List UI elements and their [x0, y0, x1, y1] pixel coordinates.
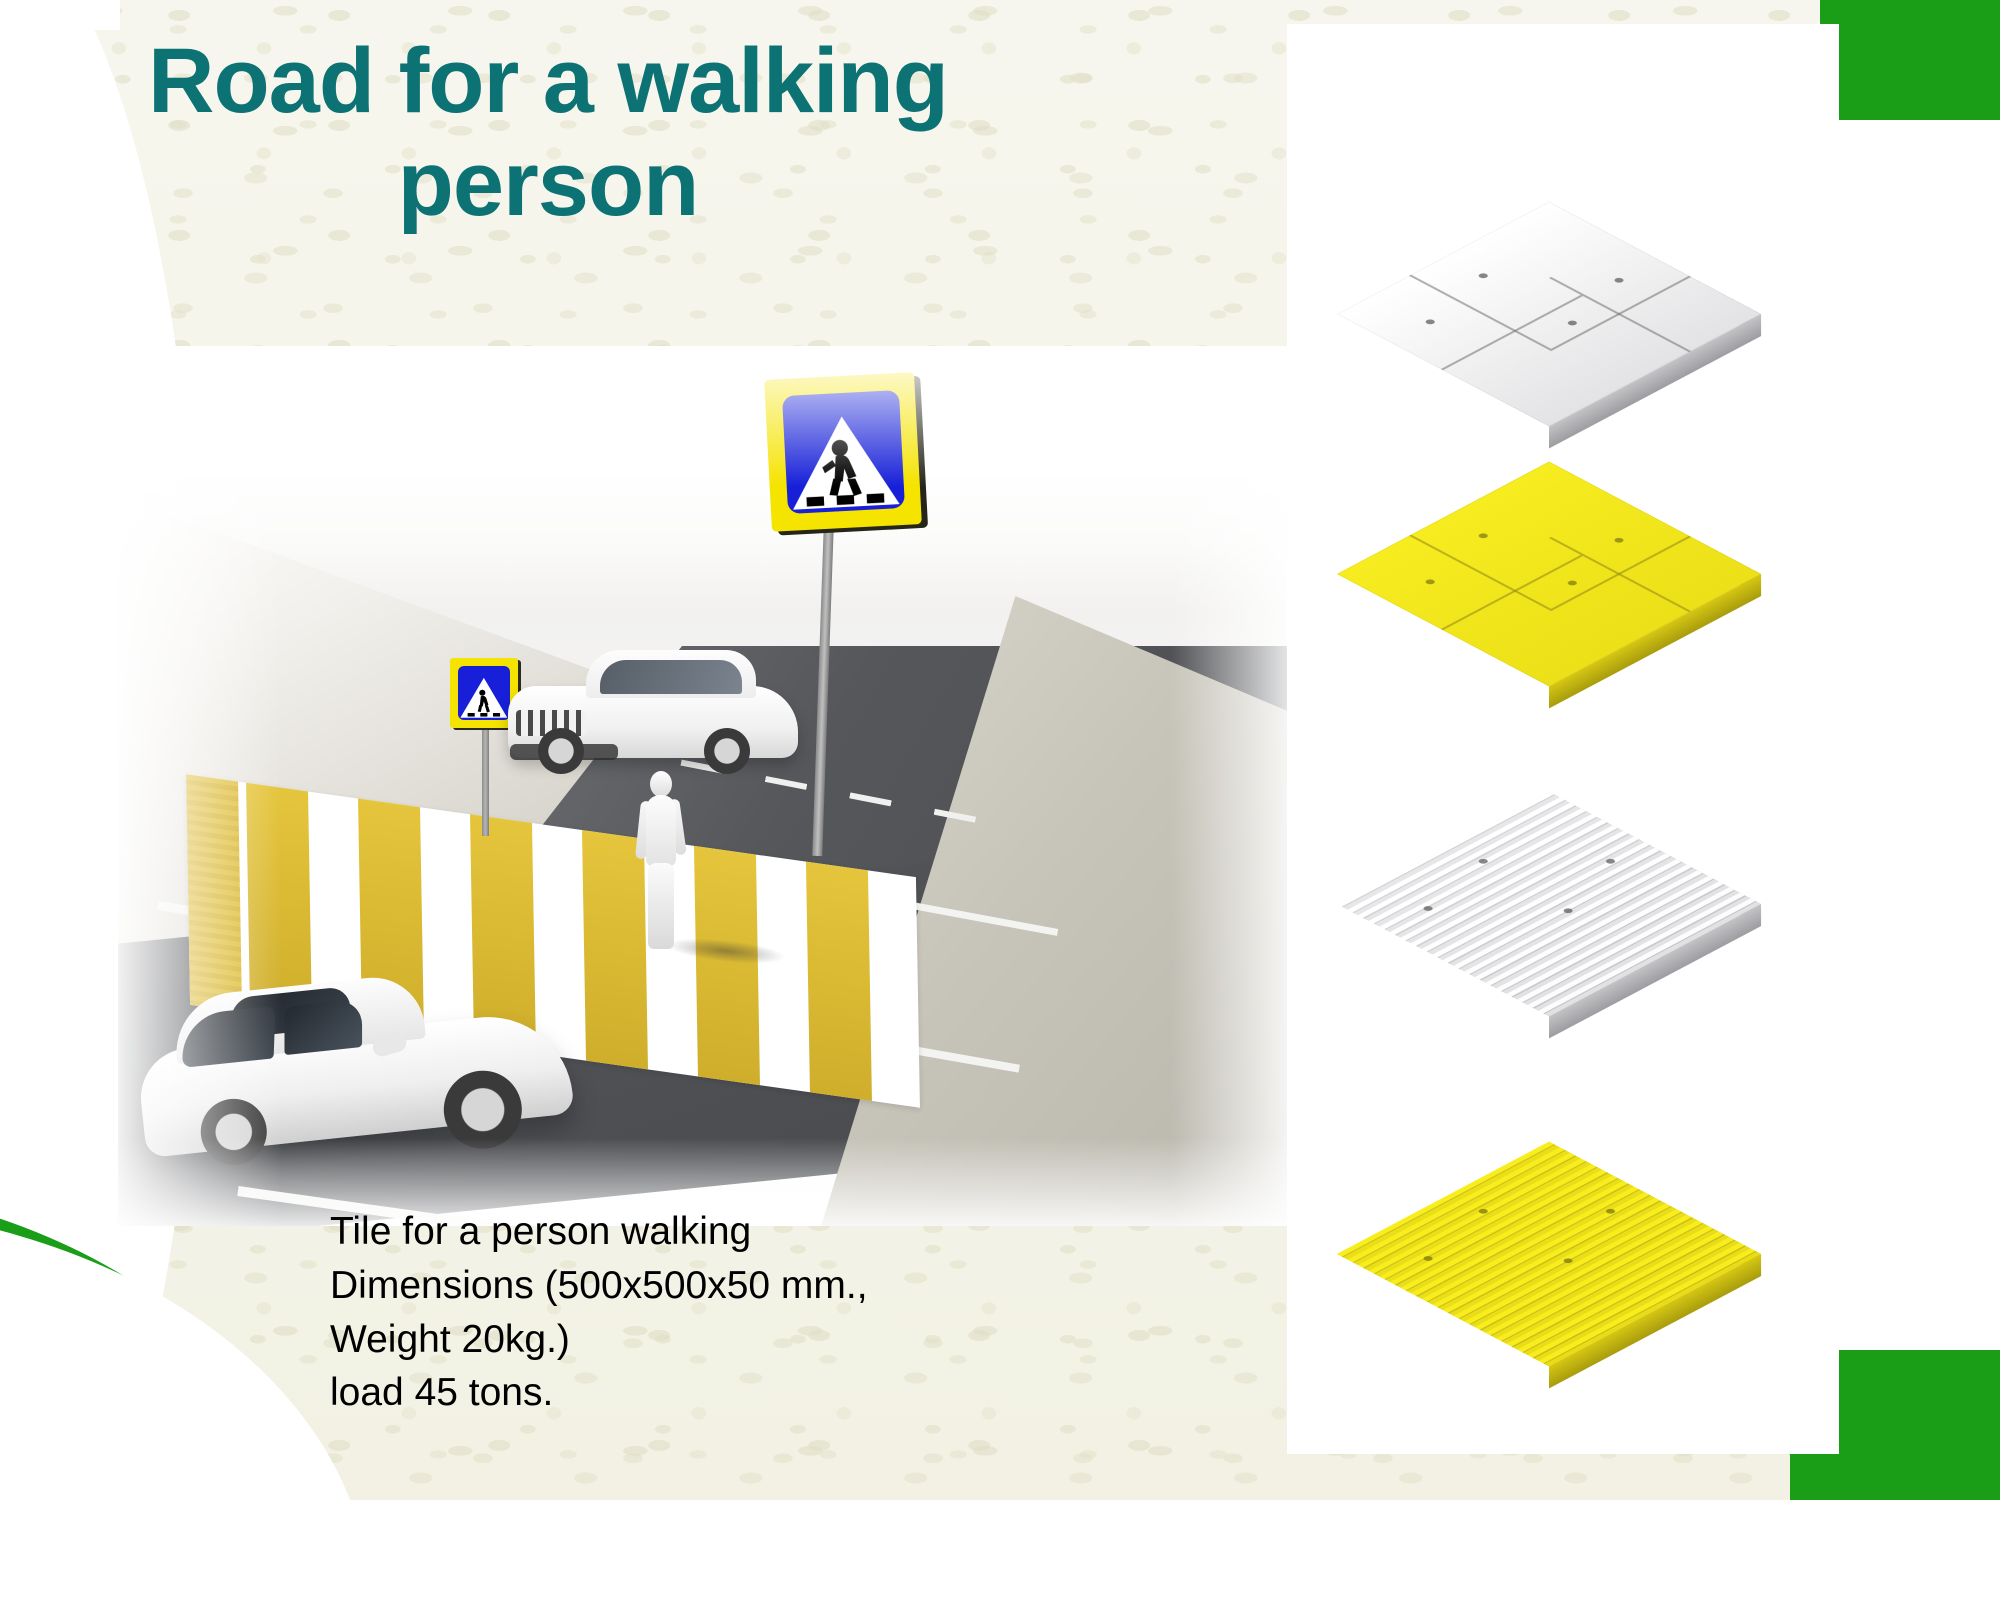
pinwheel-pattern [1337, 462, 1761, 687]
tile-body [1337, 792, 1761, 1017]
grey-ribbed-tactile-tile [1287, 714, 1839, 964]
page-title-line-2: person [108, 133, 988, 236]
sign-yellow-plate [764, 372, 922, 532]
figure-head [650, 771, 672, 797]
caption-line-3: Weight 20kg.) [330, 1313, 1050, 1367]
white-sedan [127, 924, 579, 1198]
suv-wheel [704, 728, 750, 774]
figure-legs [648, 863, 674, 949]
crossing-stripe [806, 862, 872, 1101]
tile-top-face [1337, 792, 1761, 1017]
sign-pole [482, 726, 489, 836]
sign-blue-face [781, 390, 904, 515]
green-left-bottom-white-gap [0, 1205, 370, 1605]
pedestrian-icon [782, 409, 904, 515]
caption-line-2: Dimensions (500x500x50 mm., [330, 1259, 1050, 1313]
caption-line-1: Tile for a person walking [330, 1205, 1050, 1259]
tile-body [1337, 462, 1761, 687]
pedestrian-crossing-sign-near [764, 372, 922, 532]
yellow-pinwheel-tactile-tile [1287, 384, 1839, 634]
photo-scene [118, 346, 1288, 1226]
walking-person-figure [638, 771, 684, 956]
tile-body [1337, 1142, 1761, 1367]
tile-top-face [1337, 462, 1761, 687]
page-title: Road for a walking person [108, 30, 988, 236]
ribbed-pattern [1337, 1142, 1761, 1367]
page-title-line-1: Road for a walking [108, 30, 988, 133]
slide-background: Road for a walking person [0, 0, 2000, 1500]
tile-caption: Tile for a person walking Dimensions (50… [330, 1205, 1050, 1420]
tile-top-face [1337, 1142, 1761, 1367]
suv-wheel [538, 728, 584, 774]
caption-line-4: load 45 tons. [330, 1366, 1050, 1420]
green-right-top-block [1820, 0, 2000, 120]
yellow-ribbed-tactile-tile [1287, 1064, 1839, 1314]
pedestrian-icon [458, 676, 510, 720]
grey-pinwheel-tactile-tile [1287, 124, 1839, 374]
sedan-window [284, 999, 362, 1055]
top-left-white-notch [0, 0, 120, 30]
white-suv [508, 641, 798, 776]
tile-gallery-panel [1287, 24, 1839, 1454]
suv-windows [600, 660, 742, 694]
pedestrian-crossing-photo [118, 346, 1288, 1226]
figure-torso [646, 795, 676, 867]
ribbed-pattern [1337, 792, 1761, 1017]
sign-blue-face [458, 666, 510, 719]
crossing-stripe [694, 846, 760, 1085]
